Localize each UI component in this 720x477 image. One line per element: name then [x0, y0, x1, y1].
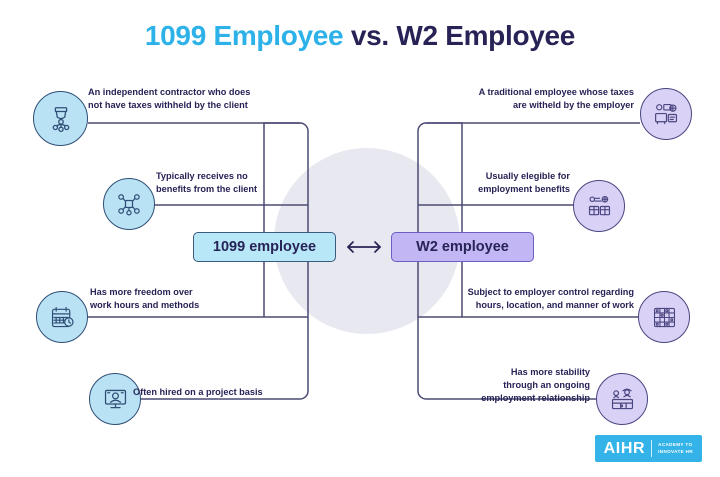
- employee-workstation-icon: [640, 88, 692, 140]
- infographic-canvas: 1099 Employee vs. W2 Employee 1099 emplo…: [0, 0, 720, 477]
- calendar-schedule-icon: [36, 291, 88, 343]
- right-node-4-text: Has more stability through an ongoing em…: [438, 366, 590, 405]
- page-title: 1099 Employee vs. W2 Employee: [0, 20, 720, 52]
- comparison-arrow-icon: [336, 232, 391, 262]
- logo-divider: [651, 440, 652, 457]
- right-node-1-text: A traditional employee whose taxes are w…: [428, 86, 634, 112]
- aihr-logo[interactable]: AIHR ACADEMY TO INNOVATE HR: [595, 435, 702, 462]
- title-rest: vs. W2 Employee: [343, 20, 575, 51]
- center-box-1099-employee[interactable]: 1099 employee: [193, 232, 336, 262]
- center-box-w2-employee[interactable]: W2 employee: [391, 232, 534, 262]
- right-node-2-text: Usually elegible for employment benefits: [440, 170, 570, 196]
- control-grid-icon: [638, 291, 690, 343]
- stable-workplace-icon: [596, 373, 648, 425]
- contractor-person-icon: [33, 91, 88, 146]
- benefits-package-icon: [573, 180, 625, 232]
- left-node-3-text: Has more freedom over work hours and met…: [90, 286, 240, 312]
- left-node-1-text: An independent contractor who does not h…: [88, 86, 296, 112]
- logo-wordmark: AIHR: [604, 441, 646, 457]
- left-node-4-text: Often hired on a project basis: [133, 386, 313, 399]
- network-nodes-icon: [103, 178, 155, 230]
- left-node-2-text: Typically receives no benefits from the …: [156, 170, 306, 196]
- logo-tagline: ACADEMY TO INNOVATE HR: [658, 442, 693, 454]
- right-node-3-text: Subject to employer control regarding ho…: [424, 286, 634, 312]
- title-highlight: 1099 Employee: [145, 20, 343, 51]
